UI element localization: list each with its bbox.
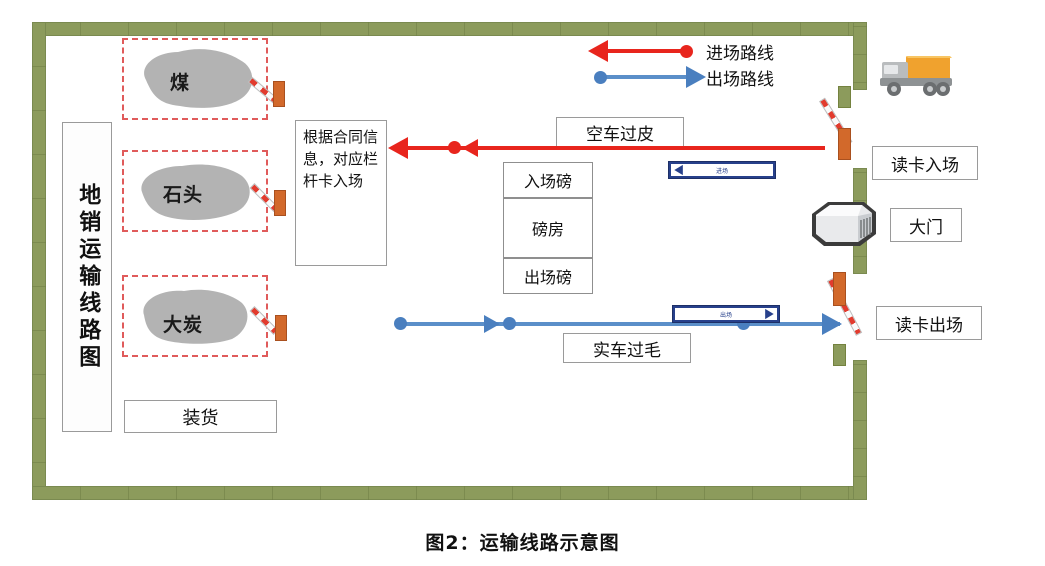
wall-segment bbox=[176, 22, 177, 36]
yard-wall-top bbox=[32, 22, 867, 36]
wall-segment bbox=[416, 486, 417, 500]
wall-segment bbox=[853, 420, 867, 421]
gate-post-pile-3 bbox=[275, 315, 287, 341]
pile-label-3: 大炭 bbox=[163, 310, 203, 337]
wall-segment bbox=[128, 22, 129, 36]
yard-wall-left bbox=[32, 22, 46, 500]
pile-label-1: 煤 bbox=[170, 68, 190, 95]
wall-segment bbox=[224, 22, 225, 36]
card-entry-label: 读卡入场 bbox=[872, 146, 978, 180]
gate-post-entry bbox=[838, 128, 851, 160]
legend-row-entry: 进场路线 bbox=[588, 38, 798, 64]
legend-entry-dot-icon bbox=[680, 45, 693, 58]
wall-segment bbox=[853, 172, 867, 173]
inbound-sign-face: 进场 bbox=[671, 164, 773, 176]
gate-post-pile-1 bbox=[273, 81, 285, 107]
wall-segment bbox=[512, 22, 513, 36]
wall-segment bbox=[752, 486, 753, 500]
empty-tare-label: 空车过皮 bbox=[556, 117, 684, 147]
card-exit-label: 读卡出场 bbox=[876, 306, 982, 340]
wall-segment bbox=[320, 486, 321, 500]
wall-segment bbox=[848, 22, 849, 36]
entry-route-arrow-mid bbox=[462, 139, 478, 157]
exit-route-start-node bbox=[394, 317, 407, 330]
wall-segment bbox=[32, 374, 46, 375]
wall-segment bbox=[853, 364, 867, 365]
main-gate-text: 大门 bbox=[909, 213, 943, 238]
inbound-road-sign: 进场 bbox=[668, 161, 776, 179]
wall-segment bbox=[848, 486, 849, 500]
card-exit-text: 读卡出场 bbox=[895, 311, 963, 336]
outbound-sign-text: 出场 bbox=[675, 310, 777, 319]
wall-segment bbox=[704, 486, 705, 500]
wall-segment bbox=[32, 242, 46, 243]
wall-segment bbox=[512, 486, 513, 500]
wall-segment bbox=[853, 26, 867, 27]
entry-decision-text: 根据合同信息，对应栏杆卡入场 bbox=[303, 127, 379, 192]
wall-segment bbox=[32, 418, 46, 419]
loaded-gross-label: 实车过毛 bbox=[563, 333, 691, 363]
wall-segment bbox=[853, 256, 867, 257]
wall-segment bbox=[272, 486, 273, 500]
yard-wall-bottom bbox=[32, 486, 867, 500]
wall-segment bbox=[853, 476, 867, 477]
wall-segment bbox=[32, 462, 46, 463]
scale-house-label: 磅房 bbox=[532, 216, 564, 240]
exit-scale-box: 出场磅 bbox=[503, 258, 593, 294]
legend-exit-arrow-icon bbox=[686, 66, 706, 88]
loading-area-label: 装货 bbox=[124, 400, 277, 433]
wall-segment bbox=[560, 486, 561, 500]
wall-segment bbox=[368, 486, 369, 500]
yard-wall-right-bottom bbox=[853, 360, 867, 500]
scale-house-box: 磅房 bbox=[503, 198, 593, 258]
wall-segment bbox=[128, 486, 129, 500]
pile-shape-coal bbox=[128, 44, 260, 112]
legend-row-exit: 出场路线 bbox=[588, 64, 798, 90]
wall-segment bbox=[224, 486, 225, 500]
wall-segment bbox=[608, 486, 609, 500]
truck-icon bbox=[872, 48, 958, 104]
exit-route-arrow-mid bbox=[484, 315, 500, 333]
wall-segment bbox=[464, 486, 465, 500]
wall-segment bbox=[853, 54, 867, 55]
wall-segment bbox=[368, 22, 369, 36]
exit-route-arrow-head bbox=[822, 313, 842, 335]
figure-caption: 图2：运输线路示意图 bbox=[0, 528, 1045, 555]
wall-segment bbox=[752, 22, 753, 36]
legend-exit-label: 出场路线 bbox=[706, 65, 774, 90]
entry-scale-label: 入场磅 bbox=[524, 168, 572, 192]
entry-decision-box: 根据合同信息，对应栏杆卡入场 bbox=[295, 120, 387, 266]
wall-segment bbox=[800, 22, 801, 36]
wall-segment bbox=[32, 66, 46, 67]
wall-segment bbox=[32, 110, 46, 111]
loading-area-text: 装货 bbox=[183, 404, 219, 430]
yard-wall-right-top bbox=[853, 22, 867, 90]
wall-segment bbox=[32, 286, 46, 287]
gate-post-exit bbox=[833, 272, 846, 306]
legend-entry-line bbox=[596, 49, 686, 53]
outbound-sign-face: 出场 bbox=[675, 308, 777, 320]
outbound-road-sign: 出场 bbox=[672, 305, 780, 323]
entry-scale-box: 入场磅 bbox=[503, 162, 593, 198]
entry-route-node bbox=[448, 141, 461, 154]
wall-segment bbox=[560, 22, 561, 36]
wall-segment bbox=[853, 392, 867, 393]
wall-segment bbox=[32, 154, 46, 155]
legend-exit-dot-icon bbox=[594, 71, 607, 84]
gate-post-olive-entry bbox=[838, 86, 851, 108]
gate-post-olive-exit bbox=[833, 344, 846, 366]
loaded-gross-text: 实车过毛 bbox=[593, 336, 661, 361]
wall-segment bbox=[320, 22, 321, 36]
empty-tare-text: 空车过皮 bbox=[586, 120, 654, 145]
legend-exit-line bbox=[602, 75, 690, 79]
entry-route-arrow-head bbox=[388, 137, 408, 159]
page-title: 地销运输线路图 bbox=[76, 183, 98, 372]
wall-segment bbox=[272, 22, 273, 36]
wall-segment bbox=[32, 330, 46, 331]
gate-post-pile-2 bbox=[274, 190, 286, 216]
wall-segment bbox=[608, 22, 609, 36]
wall-segment bbox=[853, 448, 867, 449]
wall-segment bbox=[80, 486, 81, 500]
exit-scale-label: 出场磅 bbox=[524, 264, 572, 288]
wall-segment bbox=[704, 22, 705, 36]
main-gate-label: 大门 bbox=[890, 208, 962, 242]
wall-segment bbox=[464, 22, 465, 36]
legend-entry-label: 进场路线 bbox=[706, 39, 774, 64]
wall-segment bbox=[80, 22, 81, 36]
gatehouse-icon bbox=[806, 196, 882, 252]
card-entry-text: 读卡入场 bbox=[891, 151, 959, 176]
diagram-title-panel: 地销运输线路图 bbox=[62, 122, 112, 432]
wall-segment bbox=[853, 82, 867, 83]
wall-segment bbox=[656, 486, 657, 500]
exit-route-node bbox=[503, 317, 516, 330]
wall-segment bbox=[656, 22, 657, 36]
wall-segment bbox=[800, 486, 801, 500]
inbound-sign-text: 进场 bbox=[671, 166, 773, 175]
wall-segment bbox=[32, 198, 46, 199]
wall-segment bbox=[176, 486, 177, 500]
pile-label-2: 石头 bbox=[163, 180, 203, 207]
legend-entry-arrow-icon bbox=[588, 40, 608, 62]
transport-route-diagram: 地销运输线路图 煤 石头 大炭 装货 根据合同信息，对应栏杆卡入场 入场磅 磅房… bbox=[0, 0, 1045, 566]
wall-segment bbox=[416, 22, 417, 36]
legend: 进场路线 出场路线 bbox=[588, 38, 798, 90]
